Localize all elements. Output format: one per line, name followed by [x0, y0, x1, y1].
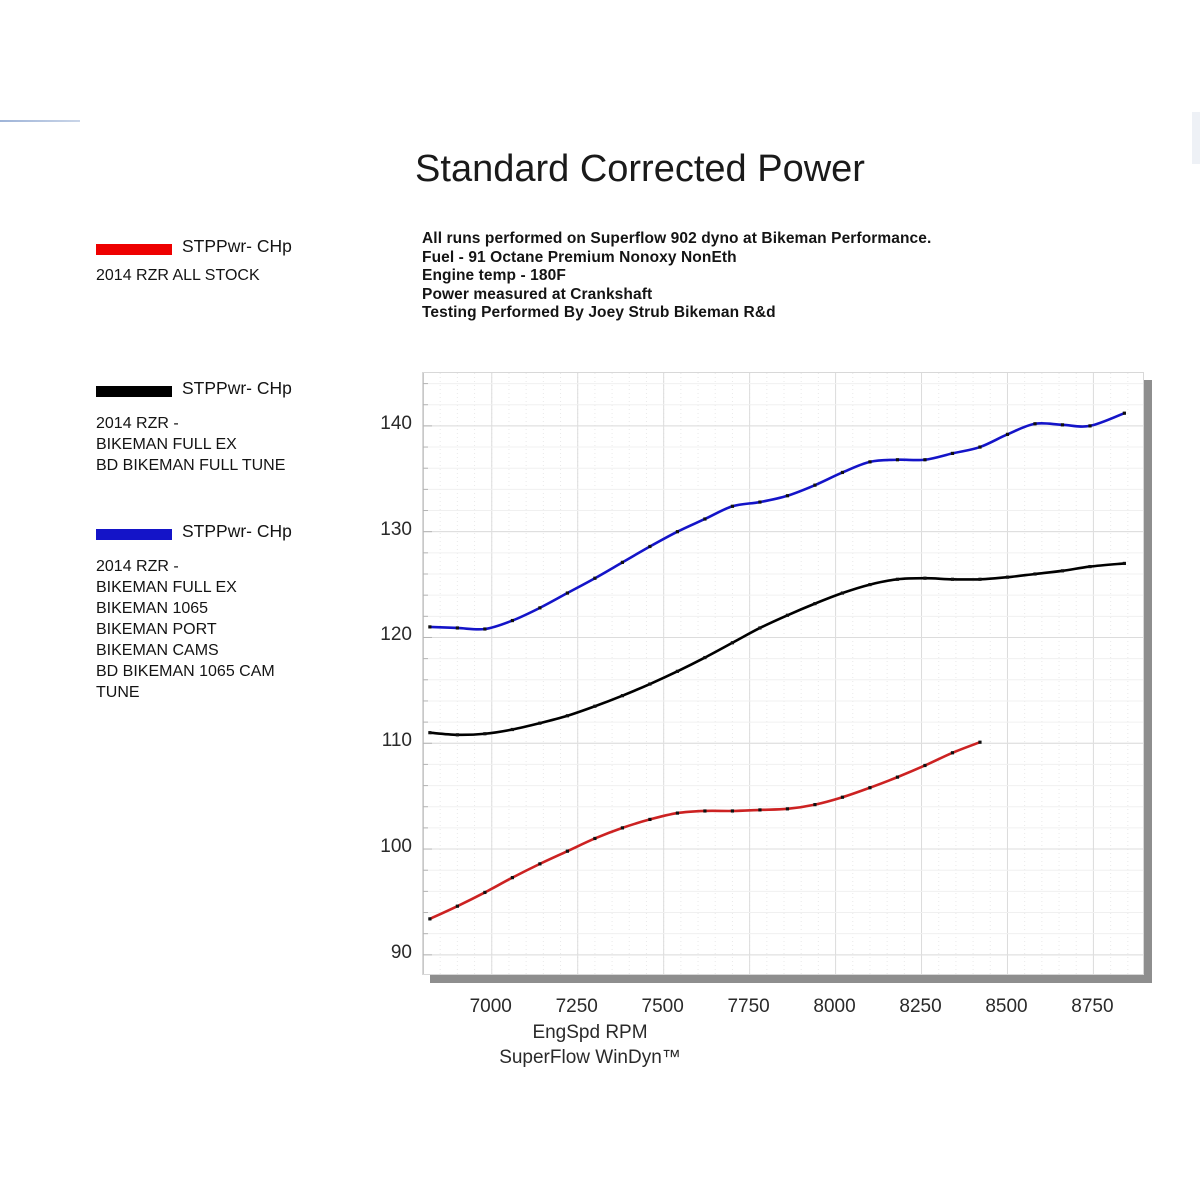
dyno-software-brand: SuperFlow WinDyn™: [0, 1047, 1200, 1069]
top-rule-right-decoration: [1192, 112, 1200, 164]
plot-container: [422, 372, 1144, 975]
plot-shadow-bottom: [430, 975, 1152, 983]
legend-series-label: STPPwr- CHp: [182, 236, 292, 257]
x-axis-tick-label: 7250: [537, 996, 617, 1018]
legend-color-swatch-red: [96, 244, 172, 255]
y-axis-tick-label: 110: [350, 730, 412, 752]
legend-item-stock: STPPwr- CHp 2014 RZR ALL STOCK: [96, 236, 346, 286]
y-axis-tick-label: 120: [350, 624, 412, 646]
power-curves-chart: [423, 373, 1144, 975]
legend-color-swatch-black: [96, 386, 172, 397]
plot-shadow-right: [1144, 380, 1152, 983]
legend-series-label: STPPwr- CHp: [182, 521, 292, 542]
legend-description-line: 2014 RZR -: [96, 556, 346, 577]
x-axis-tick-label: 8250: [881, 996, 961, 1018]
run-note-line: Testing Performed By Joey Strub Bikeman …: [422, 304, 931, 323]
y-axis-tick-label: 100: [350, 836, 412, 858]
x-axis-tick-label: 7500: [623, 996, 703, 1018]
legend-head: STPPwr- CHp: [96, 378, 346, 404]
legend-description-line: BIKEMAN FULL EX: [96, 577, 346, 598]
dyno-software-brand-text: SuperFlow WinDyn™: [499, 1047, 681, 1069]
top-rule-left-decoration: [0, 120, 80, 122]
run-note-line: Fuel - 91 Octane Premium Nonoxy NonEth: [422, 249, 931, 268]
run-note-line: All runs performed on Superflow 902 dyno…: [422, 230, 931, 249]
legend-description: 2014 RZR ALL STOCK: [96, 265, 346, 286]
legend-description-line: BIKEMAN CAMS: [96, 640, 346, 661]
legend-description-line: BIKEMAN 1065: [96, 598, 346, 619]
x-axis-tick-label: 7750: [709, 996, 789, 1018]
legend-series-label: STPPwr- CHp: [182, 378, 292, 399]
legend-description: 2014 RZR - BIKEMAN FULL EX BIKEMAN 1065 …: [96, 556, 346, 703]
x-axis-title-text: EngSpd RPM: [532, 1022, 647, 1044]
page-title: Standard Corrected Power: [360, 148, 920, 191]
x-axis-tick-label: 8750: [1052, 996, 1132, 1018]
legend-head: STPPwr- CHp: [96, 521, 346, 547]
run-notes: All runs performed on Superflow 902 dyno…: [422, 230, 931, 323]
run-note-line: Power measured at Crankshaft: [422, 286, 931, 305]
plot-area: [422, 372, 1144, 975]
x-axis-title: EngSpd RPM: [0, 1022, 1200, 1044]
legend-description-line: BD BIKEMAN 1065 CAM: [96, 661, 346, 682]
legend-description: 2014 RZR - BIKEMAN FULL EX BD BIKEMAN FU…: [96, 413, 346, 476]
legend-item-full-exhaust: STPPwr- CHp 2014 RZR - BIKEMAN FULL EX B…: [96, 378, 346, 476]
x-axis-tick-label: 7000: [451, 996, 531, 1018]
run-note-line: Engine temp - 180F: [422, 267, 931, 286]
y-axis-tick-label: 140: [350, 413, 412, 435]
legend-description-line: BD BIKEMAN FULL TUNE: [96, 455, 346, 476]
legend-head: STPPwr- CHp: [96, 236, 346, 262]
y-axis-tick-label: 90: [350, 942, 412, 964]
y-axis-tick-label: 130: [350, 519, 412, 541]
legend-item-big-bore: STPPwr- CHp 2014 RZR - BIKEMAN FULL EX B…: [96, 521, 346, 703]
x-axis-tick-label: 8500: [966, 996, 1046, 1018]
legend-description-line: BIKEMAN FULL EX: [96, 434, 346, 455]
legend-description-line: 2014 RZR -: [96, 413, 346, 434]
legend-description-line: 2014 RZR ALL STOCK: [96, 265, 346, 286]
legend-description-line: BIKEMAN PORT: [96, 619, 346, 640]
legend-description-line: TUNE: [96, 682, 346, 703]
x-axis-tick-label: 8000: [795, 996, 875, 1018]
slide-root: Standard Corrected Power All runs perfor…: [0, 0, 1200, 1200]
legend-color-swatch-blue: [96, 529, 172, 540]
